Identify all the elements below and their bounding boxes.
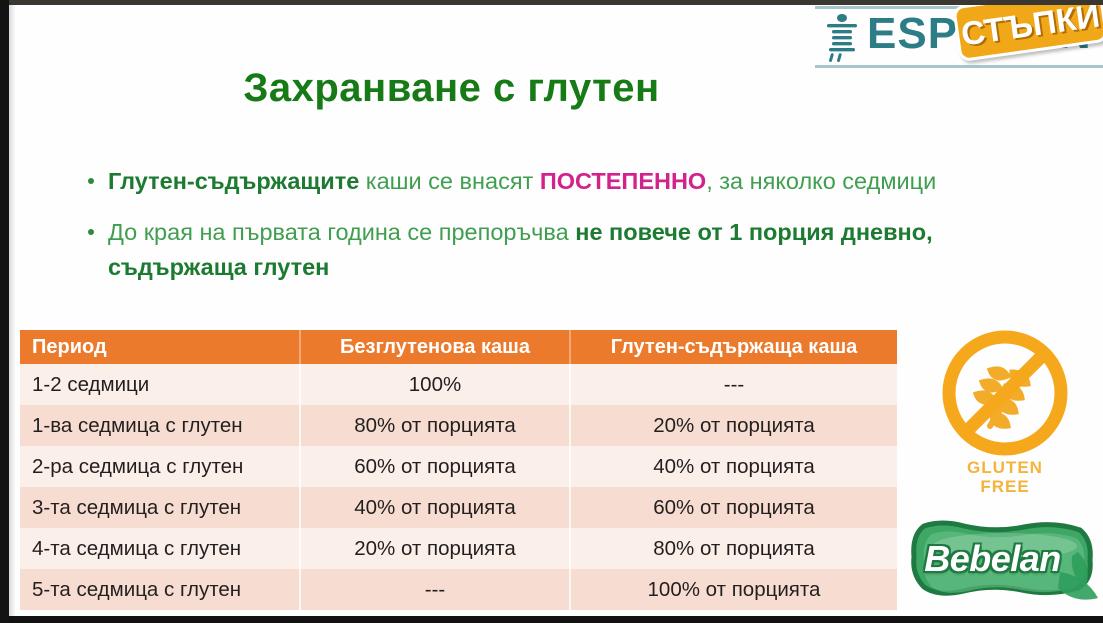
list-item: До края на първата година се препоръчва …	[84, 215, 1014, 285]
gluten-free-line-2: FREE	[930, 477, 1080, 496]
cell-gluten: 80% от порцията	[570, 528, 897, 569]
cell-gluten-free: 60% от порцията	[300, 446, 570, 487]
bullet-1-part-3: ПОСТЕПЕННО	[540, 168, 706, 194]
cell-period: 1-ва седмица с глутен	[20, 405, 300, 446]
presentation-slide: ESPGHAN ПЪРВИ СТЪПКИ Захранване с глутен…	[0, 0, 1103, 623]
slide-edge-shadow	[9, 5, 16, 616]
sticker-main-text: СТЪПКИ	[956, 0, 1103, 61]
cell-gluten-free: 20% от порцията	[300, 528, 570, 569]
bullet-2-part-1: До края на първата година се препоръчва	[108, 219, 575, 245]
gluten-free-icon	[930, 328, 1080, 458]
cell-period: 1-2 седмици	[20, 364, 300, 405]
letterbox-top	[0, 0, 1103, 5]
cell-period: 2-ра седмица с глутен	[20, 446, 300, 487]
bullet-1-part-1: Глутен-съдържащите	[108, 168, 359, 194]
gluten-free-badge: GLUTEN FREE	[930, 328, 1080, 513]
cell-gluten-free: ---	[300, 569, 570, 610]
cell-period: 4-та седмица с глутен	[20, 528, 300, 569]
column-header-period: Период	[20, 330, 300, 364]
table-row: 1-2 седмици 100% ---	[20, 364, 897, 405]
letterbox-left	[0, 0, 9, 623]
table-row: 5-та седмица с глутен --- 100% от порция…	[20, 569, 897, 610]
bullet-dot-icon	[88, 178, 94, 184]
gluten-free-caption: GLUTEN FREE	[930, 458, 1080, 496]
cell-period: 5-та седмица с глутен	[20, 569, 300, 610]
logo-rule-bottom	[815, 65, 1103, 68]
cell-gluten: 100% от порцията	[570, 569, 897, 610]
bullet-1-part-2: каши се внасят	[359, 168, 540, 194]
cell-gluten: 60% от порцията	[570, 487, 897, 528]
cell-period: 3-та седмица с глутен	[20, 487, 300, 528]
cell-gluten: ---	[570, 364, 897, 405]
table-row: 2-ра седмица с глутен 60% от порцията 40…	[20, 446, 897, 487]
page-title: Захранване с глутен	[0, 66, 1103, 111]
cell-gluten-free: 40% от порцията	[300, 487, 570, 528]
sticker-main-label: СТЪПКИ	[952, 0, 1103, 62]
bullet-1-part-4: , за няколко седмици	[706, 168, 936, 194]
bebelan-logo: Bebelan	[910, 518, 1100, 610]
table-row: 4-та седмица с глутен 20% от порцията 80…	[20, 528, 897, 569]
list-item: Глутен-съдържащите каши се внасят ПОСТЕП…	[84, 164, 1014, 199]
gluten-schedule-table: Период Безглутенова каша Глутен-съдържащ…	[20, 330, 897, 610]
bebelan-wordmark: Bebelan	[910, 538, 1075, 580]
gluten-free-line-1: GLUTEN	[930, 458, 1080, 477]
table-row: 3-та седмица с глутен 40% от порцията 60…	[20, 487, 897, 528]
cell-gluten-free: 100%	[300, 364, 570, 405]
cell-gluten-free: 80% от порцията	[300, 405, 570, 446]
cell-gluten: 20% от порцията	[570, 405, 897, 446]
cell-gluten: 40% от порцията	[570, 446, 897, 487]
bullet-dot-icon	[88, 229, 94, 235]
bullet-list: Глутен-съдържащите каши се внасят ПОСТЕП…	[84, 164, 1014, 301]
letterbox-bottom	[0, 616, 1103, 623]
table-header-row: Период Безглутенова каша Глутен-съдържащ…	[20, 330, 897, 364]
table-row: 1-ва седмица с глутен 80% от порцията 20…	[20, 405, 897, 446]
espghan-emblem-icon	[821, 12, 863, 62]
column-header-gluten-porridge: Глутен-съдържаща каша	[570, 330, 897, 364]
column-header-gluten-free-porridge: Безглутенова каша	[300, 330, 570, 364]
